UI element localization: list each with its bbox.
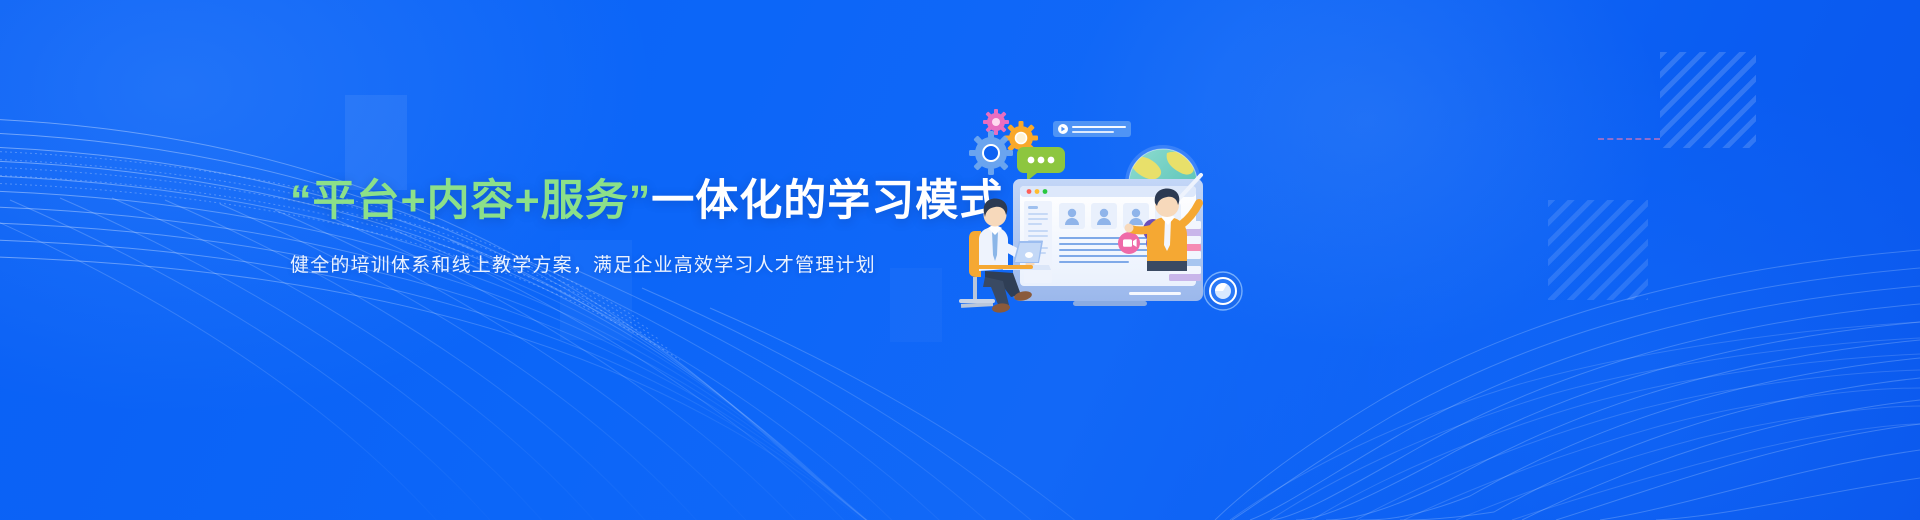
banner-subtitle: 健全的培训体系和线上教学方案，满足企业高效学习人才管理计划 [290, 251, 980, 281]
online-learning-illustration [955, 95, 1275, 335]
gear-blue-icon [969, 131, 1013, 175]
decor-dashed-line [1598, 138, 1660, 140]
video-button [1118, 232, 1140, 254]
decor-square-stripes-illo [1548, 200, 1648, 300]
camera-lens-icon [1204, 272, 1242, 310]
hero-banner: “平台+内容+服务”一体化的学习模式 健全的培训体系和线上教学方案，满足企业高效… [0, 0, 1920, 520]
decor-square-stripes-top-right [1660, 52, 1756, 148]
headline-rest: 一体化的学习模式 [651, 177, 1003, 225]
gear-pink-icon [983, 109, 1009, 135]
banner-copy: “平台+内容+服务”一体化的学习模式 健全的培训体系和线上教学方案，满足企业高效… [290, 176, 980, 281]
page-title: “平台+内容+服务”一体化的学习模式 [290, 176, 980, 227]
video-progress-bar-icon [1053, 121, 1131, 137]
chat-bubble-icon [1017, 147, 1065, 181]
headline-highlight: “平台+内容+服务” [290, 177, 651, 225]
